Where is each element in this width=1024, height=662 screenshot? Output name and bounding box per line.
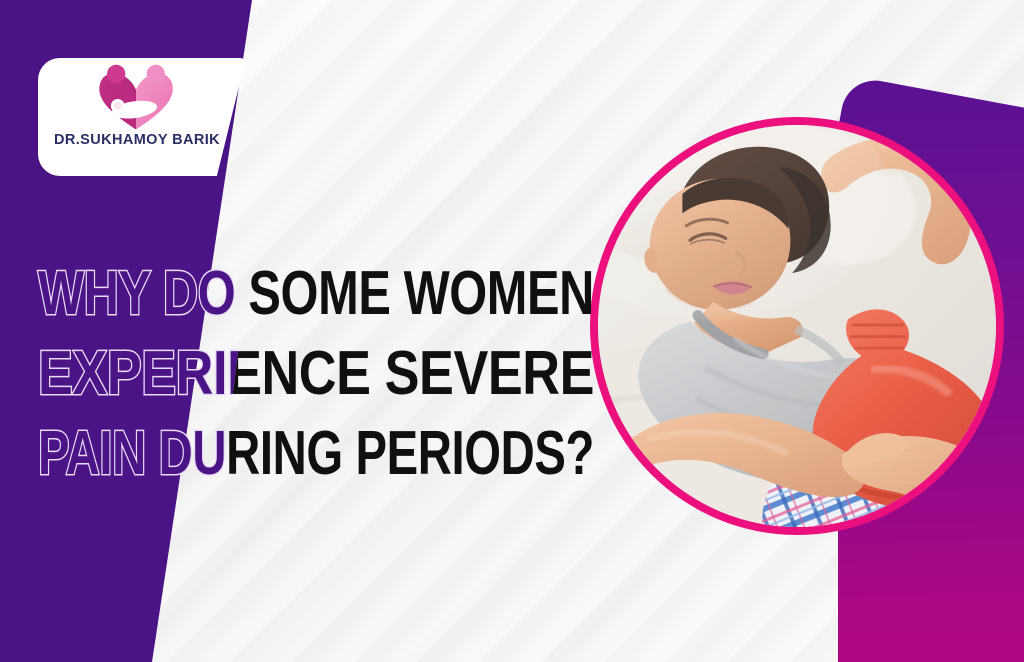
banner-root: DR.SUKHAMOY BARIK WHY DO SOME WOMEN EXPE…: [0, 0, 1024, 662]
parent-child-heart-logo-icon: [90, 64, 182, 134]
hero-photo-circle: [590, 117, 1004, 535]
brand-logo-card[interactable]: DR.SUKHAMOY BARIK: [38, 58, 246, 176]
hero-photo-illustration: [590, 117, 1004, 535]
brand-name-label: DR.SUKHAMOY BARIK: [54, 132, 220, 148]
